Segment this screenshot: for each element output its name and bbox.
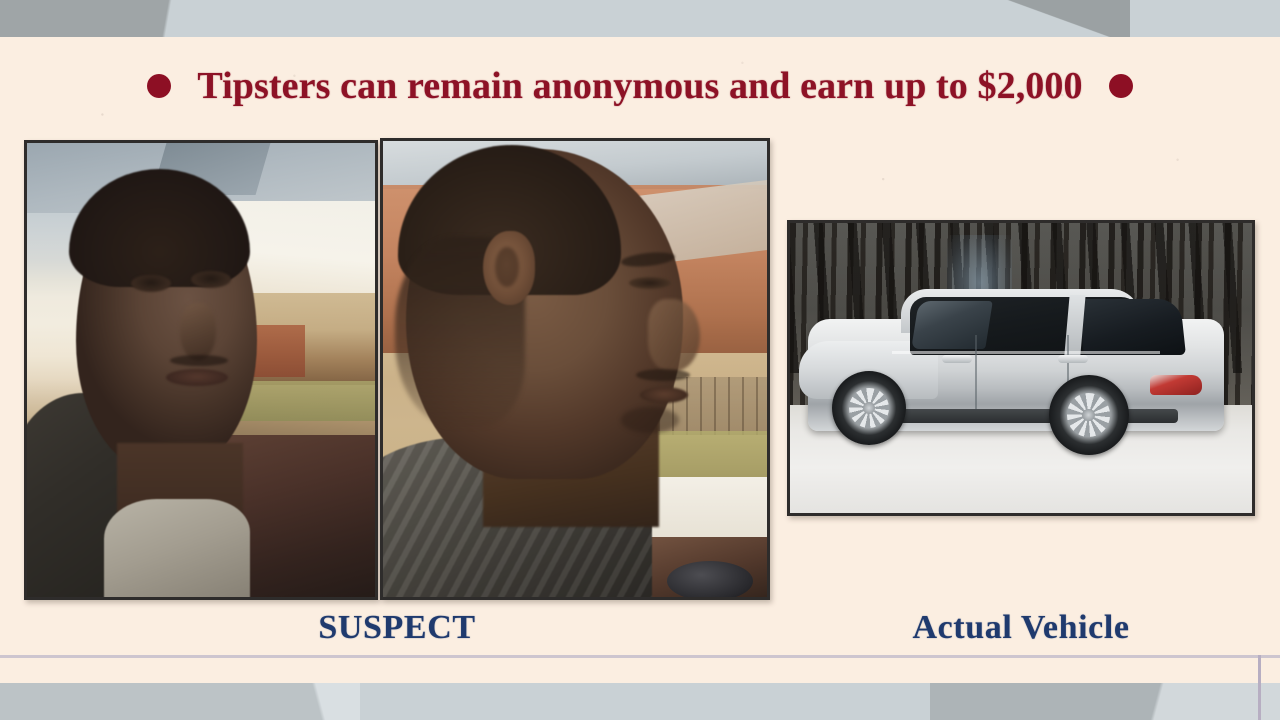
vehicle-door-seam xyxy=(975,335,977,417)
suspect-mustache xyxy=(170,355,228,366)
vehicle-rear-wheel xyxy=(1049,375,1129,455)
vehicle-front-window xyxy=(911,301,993,349)
suspect-right-eye xyxy=(191,271,231,288)
suspect-nose xyxy=(180,303,216,361)
suspect-mustache xyxy=(636,369,690,381)
divider-rule xyxy=(0,655,1280,658)
headline-text: Tipsters can remain anonymous and earn u… xyxy=(197,64,1082,108)
suspect-chin xyxy=(621,407,679,433)
vehicle-front-wheel xyxy=(832,371,906,445)
suspect-caption: SUSPECT xyxy=(24,609,770,647)
suspect-mouth xyxy=(166,369,228,386)
bottom-letterbox-band xyxy=(0,683,1280,720)
wheel-rim xyxy=(1067,393,1110,436)
background-building-accent xyxy=(250,325,306,377)
broadcast-screen: Tipsters can remain anonymous and earn u… xyxy=(0,0,1280,720)
suspect-eye xyxy=(629,277,671,289)
suspect-mouth xyxy=(640,387,688,403)
wheel-rim xyxy=(849,388,889,428)
suspect-shirt xyxy=(104,499,250,600)
suspect-front-photo xyxy=(24,140,378,600)
car-mirror xyxy=(667,561,753,600)
top-letterbox-band xyxy=(0,0,1280,37)
vehicle-caption: Actual Vehicle xyxy=(787,609,1255,647)
headline-banner: Tipsters can remain anonymous and earn u… xyxy=(0,47,1280,125)
bullet-dot-left-icon xyxy=(147,74,171,98)
divider-rule-edge xyxy=(1258,655,1261,720)
suspect-profile-photo xyxy=(380,138,770,600)
bullet-dot-right-icon xyxy=(1109,74,1133,98)
vehicle-photo xyxy=(787,220,1255,516)
wanted-poster-panel: Tipsters can remain anonymous and earn u… xyxy=(0,37,1280,683)
suspect-nose xyxy=(648,299,700,371)
vehicle-door-handle xyxy=(1058,355,1088,363)
vehicle-beltline xyxy=(892,351,1160,354)
suspect-ear xyxy=(483,231,535,305)
vehicle-door-handle xyxy=(942,355,972,363)
vehicle-rear-window xyxy=(1078,299,1186,355)
vehicle-taillight xyxy=(1150,375,1202,395)
